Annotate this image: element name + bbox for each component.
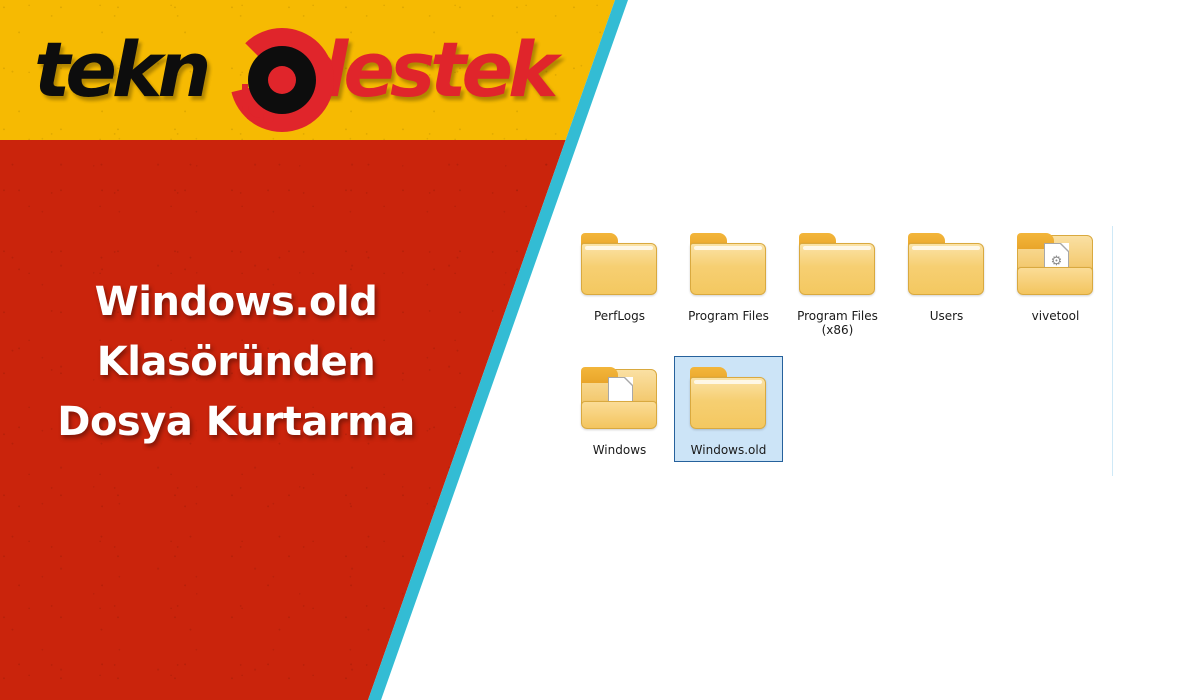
file-item-label: Users <box>895 309 999 323</box>
file-item-label: Program Files <box>677 309 781 323</box>
screenshot-canvas: tekn destek Windows.old Klasöründen Dosy… <box>0 0 1200 700</box>
file-item-label: vivetool <box>1004 309 1108 323</box>
file-item-windows[interactable]: Windows <box>565 356 674 462</box>
folder-closed-icon <box>684 361 774 435</box>
file-item-perflogs[interactable]: PerfLogs <box>565 222 674 328</box>
file-explorer-icon-grid: PerfLogs Program Files Program Files (x8… <box>565 222 1125 462</box>
icon-row-1: PerfLogs Program Files Program Files (x8… <box>565 222 1125 342</box>
file-item-label: PerfLogs <box>568 309 672 323</box>
icon-row-2: Windows Windows.old <box>565 356 1125 462</box>
headline-line-1: Windows.old <box>40 272 432 332</box>
file-item-program-files-x86[interactable]: Program Files (x86) <box>783 222 892 342</box>
file-item-vivetool[interactable]: ⚙ vivetool <box>1001 222 1110 328</box>
file-item-windows-old[interactable]: Windows.old <box>674 356 783 462</box>
promo-headline: Windows.old Klasöründen Dosya Kurtarma <box>40 272 432 452</box>
headline-line-2: Klasöründen <box>40 332 432 392</box>
file-item-program-files[interactable]: Program Files <box>674 222 783 328</box>
folder-closed-icon <box>902 227 992 301</box>
headset-circle-icon <box>230 28 334 132</box>
folder-open-document-icon <box>575 361 665 435</box>
folder-closed-icon <box>684 227 774 301</box>
brand-logo[interactable]: tekn destek <box>34 22 554 118</box>
folder-closed-icon <box>575 227 665 301</box>
file-item-label: Windows.old <box>677 443 781 457</box>
file-item-label: Windows <box>568 443 672 457</box>
file-item-label: Program Files (x86) <box>786 309 890 337</box>
folder-closed-icon <box>793 227 883 301</box>
headline-line-3: Dosya Kurtarma <box>40 392 432 452</box>
promo-panel: tekn destek Windows.old Klasöründen Dosy… <box>0 0 615 700</box>
logo-text-tekno: tekn <box>34 22 207 118</box>
file-item-users[interactable]: Users <box>892 222 1001 328</box>
folder-open-document-gear-icon: ⚙ <box>1011 227 1101 301</box>
